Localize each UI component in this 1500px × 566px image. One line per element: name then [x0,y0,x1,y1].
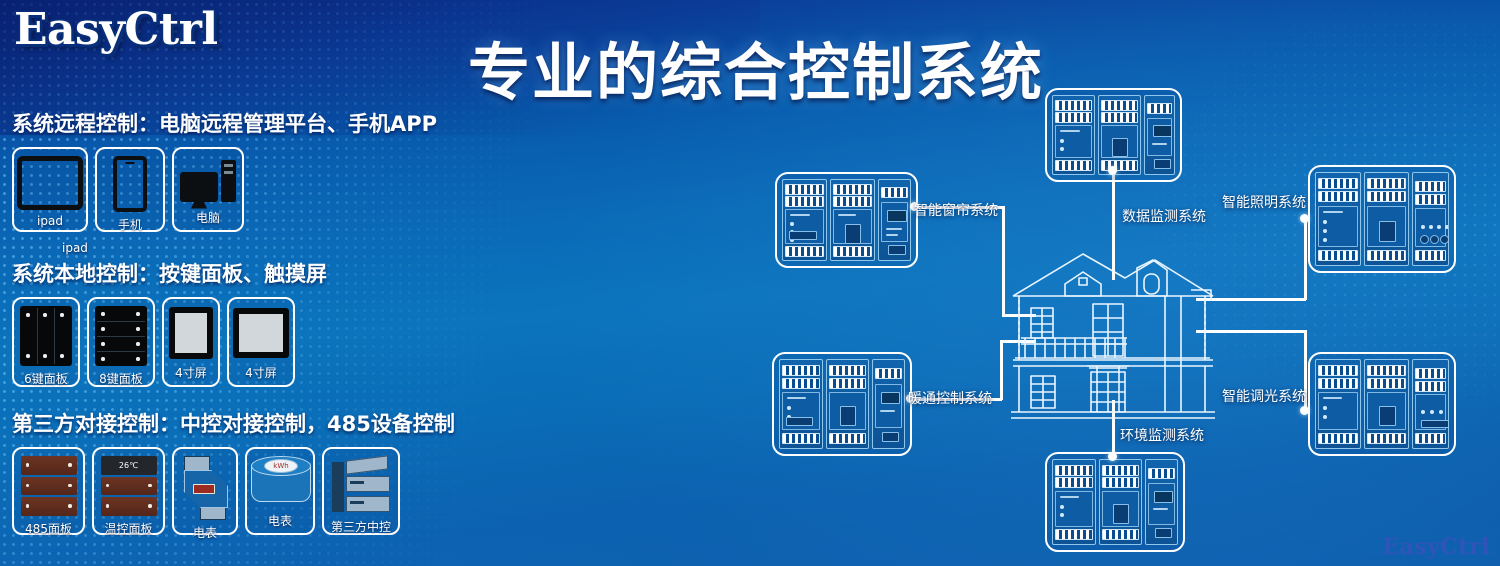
controller-module [1364,359,1410,449]
third-party-controller-icon [332,456,390,514]
card-caption: 4寸屏 [245,360,277,381]
controller-module [1052,95,1095,175]
diagram-label-curtain: 智能窗帘系统 [914,200,998,220]
brand-logo: EasyCtrl [14,4,218,55]
section-remote-control: 系统远程控制：电脑远程管理平台、手机APP ipad 手机 电脑 ipad [12,108,437,232]
round-meter-icon: kWh [251,456,309,508]
module-box-lighting[interactable] [1308,165,1456,273]
card-row-local: 6键面板 8键面板 [12,297,327,387]
card-caption: 第三方中控 [331,514,391,535]
card-electric-meter[interactable]: 电表 [172,447,238,535]
card-caption: 手机 [118,212,142,233]
diagram-label-hvac: 暖通控制系统 [908,388,992,408]
tablet-icon [17,156,83,210]
module-box-curtain[interactable] [775,172,918,268]
diagram-label-dimming: 智能调光系统 [1222,386,1306,406]
controller-module [779,359,823,449]
card-ipad[interactable]: ipad [12,147,88,232]
banner-canvas: EasyCtrl 专业的综合控制系统 系统远程控制：电脑远程管理平台、手机APP… [0,0,1500,566]
controller-module [1315,172,1361,266]
card-rs485-panel[interactable]: 485面板 [12,447,85,535]
eight-key-panel-icon [95,306,147,366]
card-phone[interactable]: 手机 [95,147,165,232]
card-four-inch-screen[interactable]: 4寸屏 [162,297,220,387]
ipad-sub-caption: ipad [62,241,88,255]
gateway-module [872,359,905,449]
phone-icon [113,156,147,212]
controller-module [1315,359,1361,449]
card-caption: 8键面板 [99,366,143,387]
section-heading-third-party: 第三方对接控制：中控对接控制，485设备控制 [12,408,455,438]
link-hvac-vert [1000,340,1003,400]
card-thermostat-panel[interactable]: 26℃ 温控面板 [92,447,165,535]
rs485-panel-icon [21,456,77,516]
module-box-hvac[interactable] [772,352,912,456]
section-heading-remote: 系统远程控制：电脑远程管理平台、手机APP [12,108,437,138]
link-lighting-vert [1304,218,1307,300]
page-title: 专业的综合控制系统 [468,22,1044,112]
card-third-party-controller[interactable]: 第三方中控 [322,447,400,535]
node-monitoring [1108,166,1117,175]
diagram-label-lighting: 智能照明系统 [1222,192,1306,212]
controller-module [1364,172,1410,266]
card-row-remote: ipad 手机 电脑 [12,147,437,232]
module-box-dimming[interactable] [1308,352,1456,456]
gateway-module [1145,459,1178,545]
card-computer[interactable]: 电脑 [172,147,244,232]
node-lighting [1300,214,1309,223]
section-heading-local: 系统本地控制：按键面板、触摸屏 [12,258,327,288]
six-key-panel-icon [20,306,72,366]
card-caption: 4寸屏 [175,360,207,381]
house-illustration [1005,248,1220,420]
module-box-environment[interactable] [1045,452,1185,552]
controller-module [1052,459,1096,545]
thermostat-display: 26℃ [101,456,157,475]
controller-module [1099,459,1143,545]
controller-module [782,179,827,261]
card-caption: 电表 [268,508,292,529]
four-inch-screen-wide-icon [233,306,289,360]
card-round-meter[interactable]: kWh 电表 [245,447,315,535]
diagram-label-monitoring: 数据监测系统 [1122,206,1206,226]
node-dimming [1300,406,1309,415]
desktop-computer-icon [180,156,236,205]
electric-meter-icon [180,456,230,520]
round-meter-label: kWh [264,459,298,473]
four-inch-screen-icon [169,306,213,360]
section-third-party: 第三方对接控制：中控对接控制，485设备控制 485面板 26℃ [12,408,455,535]
card-caption: ipad [37,210,63,228]
controller-module [1098,95,1141,175]
gateway-module [1144,95,1175,175]
controller-module [826,359,870,449]
controller-module [830,179,875,261]
gateway-module [878,179,911,261]
card-four-inch-screen-wide[interactable]: 4寸屏 [227,297,295,387]
card-caption: 485面板 [25,516,72,537]
dimmer-module [1412,359,1449,449]
card-caption: 电表 [193,520,217,541]
card-six-key-panel[interactable]: 6键面板 [12,297,80,387]
dimmer-module [1412,172,1449,266]
card-caption: 6键面板 [24,366,68,387]
card-eight-key-panel[interactable]: 8键面板 [87,297,155,387]
section-local-control: 系统本地控制：按键面板、触摸屏 6键面板 [12,258,327,387]
node-environment [1108,452,1117,461]
watermark: EasyCtrl [1382,534,1490,560]
thermostat-panel-icon: 26℃ [101,456,157,516]
diagram-label-environment: 环境监测系统 [1120,425,1204,445]
card-row-third-party: 485面板 26℃ 温控面板 [12,447,455,535]
card-caption: 温控面板 [104,516,152,537]
